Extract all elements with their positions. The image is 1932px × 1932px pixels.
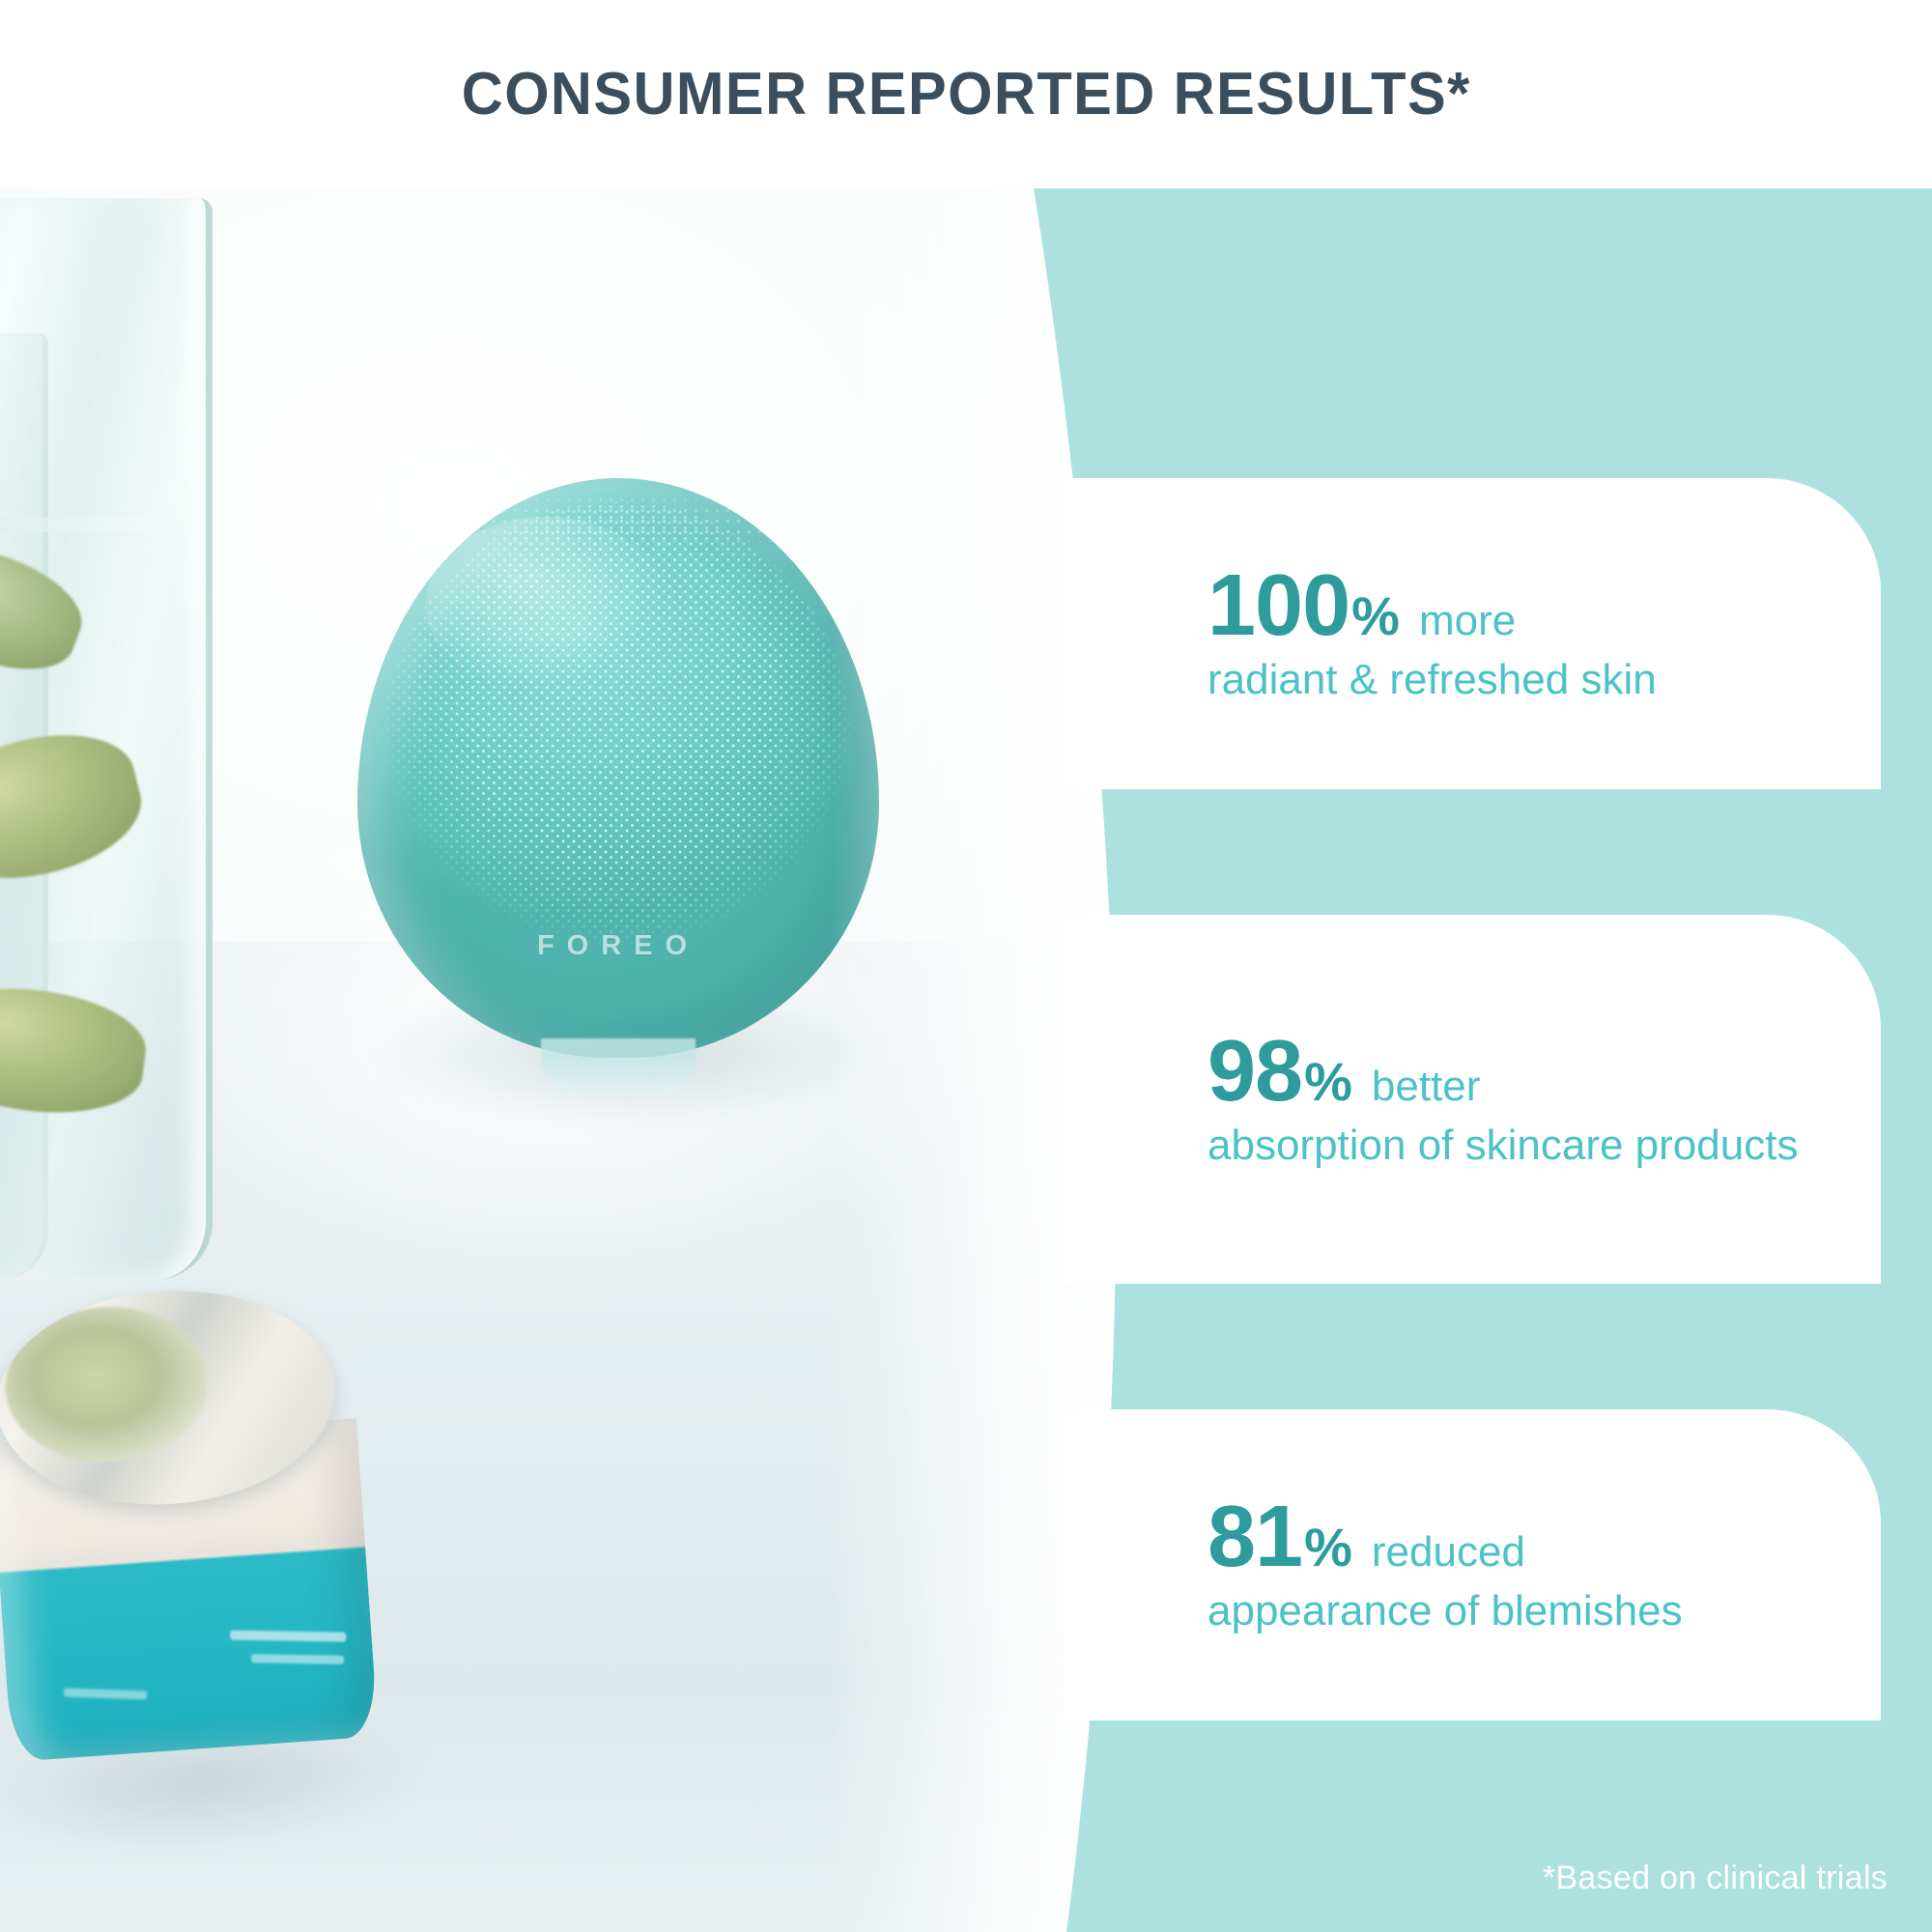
product-photo: FOREO [0, 188, 1140, 1932]
cream-jar [0, 1315, 423, 1845]
jar-label-line [64, 1688, 147, 1699]
jar-label-line [251, 1654, 344, 1664]
stat-lead-word: more [1419, 600, 1516, 642]
stat-percent-sign: % [1304, 1520, 1352, 1575]
content-stage: FOREO 100 % more radiant & refreshed ski… [0, 188, 1932, 1932]
stat-value: 81 [1207, 1493, 1302, 1580]
stat-percent-sign: % [1304, 1055, 1352, 1109]
header-bar: CONSUMER REPORTED RESULTS* [0, 0, 1932, 188]
stat-description: absorption of skincare products [1207, 1121, 1842, 1171]
foreo-device: FOREO [357, 478, 898, 1096]
stat-value: 98 [1207, 1028, 1302, 1115]
stat-headline: 100 % more [1207, 562, 1842, 649]
stat-card: 98 % better absorption of skincare produ… [1065, 915, 1881, 1284]
page-title: CONSUMER REPORTED RESULTS* [462, 60, 1471, 128]
stat-value: 100 [1207, 562, 1350, 649]
device-highlight [425, 517, 667, 691]
stat-headline: 81 % reduced [1207, 1493, 1842, 1580]
device-foot [541, 1038, 696, 1096]
stat-card: 81 % reduced appearance of blemishes [1065, 1409, 1881, 1720]
stat-lead-word: better [1372, 1065, 1481, 1108]
stat-card: 100 % more radiant & refreshed skin [1065, 478, 1881, 789]
stat-description: radiant & refreshed skin [1207, 655, 1842, 705]
water-surface-line [0, 517, 150, 532]
jar-label-line [230, 1631, 346, 1642]
device-body: FOREO [357, 478, 879, 1058]
stat-percent-sign: % [1351, 589, 1400, 643]
stat-lead-word: reduced [1372, 1531, 1525, 1574]
device-brand-label: FOREO [357, 930, 879, 962]
stat-description: appearance of blemishes [1207, 1586, 1842, 1636]
footnote-text: *Based on clinical trials [1543, 1860, 1888, 1897]
stat-headline: 98 % better [1207, 1028, 1842, 1115]
